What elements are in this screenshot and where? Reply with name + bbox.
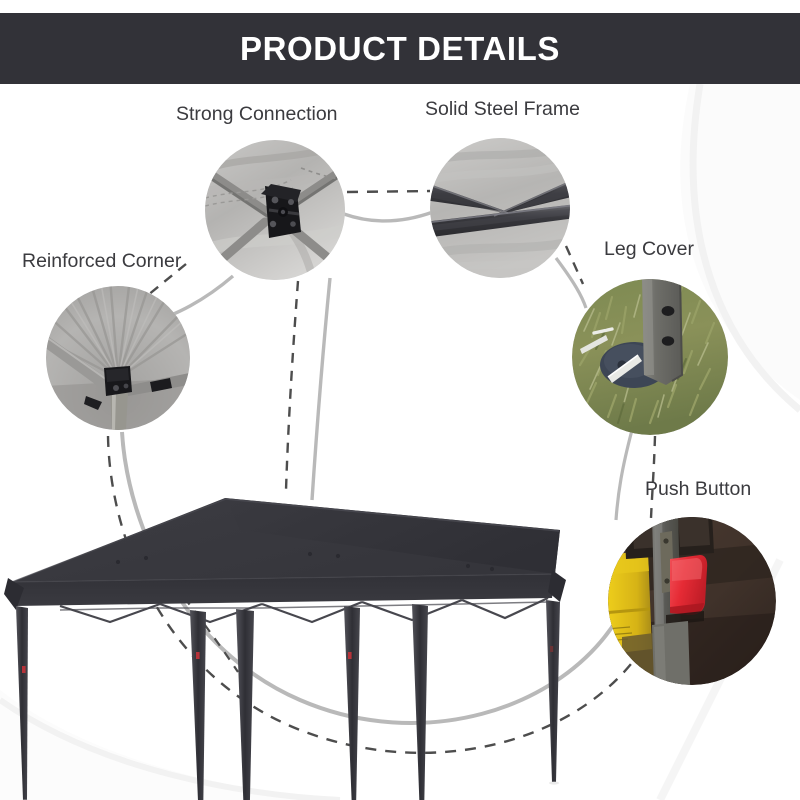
connector-curve-canopy-top bbox=[312, 278, 330, 500]
connector-curve-main-sweep bbox=[122, 432, 618, 723]
steel-frame-icon bbox=[430, 138, 570, 278]
callout-label-solid-steel-frame: Solid Steel Frame bbox=[425, 100, 580, 120]
header-banner: PRODUCT DETAILS bbox=[0, 13, 800, 84]
connector-dashed-right-lower bbox=[651, 436, 655, 518]
leg-cover-icon bbox=[572, 279, 728, 435]
callout-strong-connection[interactable]: Strong Connection bbox=[205, 140, 345, 280]
connector-dashed-main-sweep bbox=[108, 436, 648, 753]
product-gazebo-image bbox=[0, 470, 620, 800]
callout-label-leg-cover: Leg Cover bbox=[604, 240, 694, 260]
callout-solid-steel-frame[interactable]: Solid Steel Frame bbox=[430, 138, 570, 278]
connector-dashed-canopy-mid bbox=[142, 544, 238, 672]
callout-label-reinforced-corner: Reinforced Corner bbox=[22, 252, 181, 272]
push-button-icon bbox=[608, 517, 776, 685]
hub-connector-icon bbox=[205, 140, 345, 280]
connector-dashed-top bbox=[347, 191, 430, 192]
page-title: PRODUCT DETAILS bbox=[240, 32, 560, 65]
corner-bracket-icon bbox=[46, 286, 190, 430]
product-details-infographic: PRODUCT DETAILS bbox=[0, 0, 800, 800]
connector-curve-right-lower bbox=[616, 430, 632, 520]
callout-reinforced-corner[interactable]: Reinforced Corner bbox=[46, 286, 190, 430]
callout-push-button[interactable]: Push Button bbox=[608, 517, 776, 685]
connector-dashed-canopy-top bbox=[286, 281, 298, 490]
callout-leg-cover[interactable]: Leg Cover bbox=[572, 279, 728, 435]
callout-label-push-button: Push Button bbox=[645, 480, 751, 500]
callout-label-strong-connection: Strong Connection bbox=[176, 105, 338, 125]
connector-curve-top bbox=[344, 212, 433, 221]
